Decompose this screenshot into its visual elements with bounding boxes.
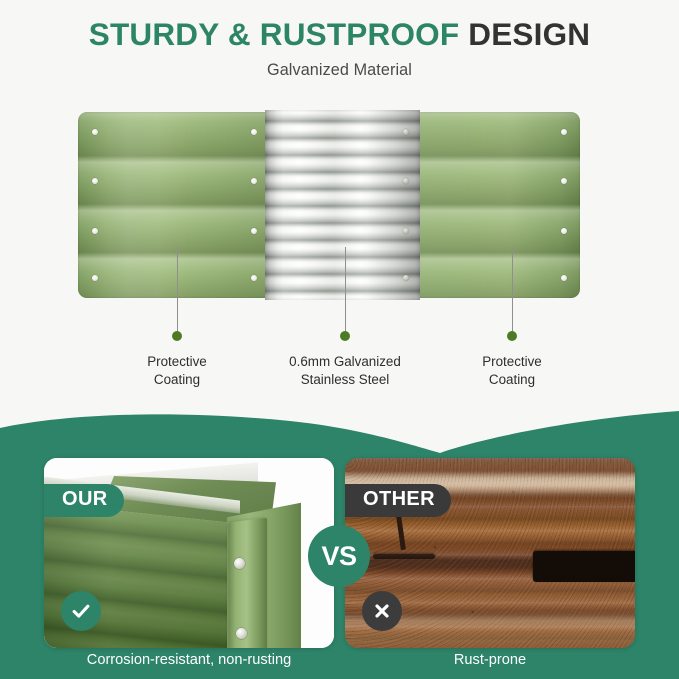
callout-dot-right <box>507 331 517 341</box>
infographic-page: STURDY & RUSTPROOF DESIGN Galvanized Mat… <box>0 0 679 679</box>
screw <box>561 228 567 234</box>
galvanized-steel-core <box>265 110 420 300</box>
leader-line-right <box>512 247 513 332</box>
corner-post-screw <box>234 558 245 569</box>
callout-dot-left <box>172 331 182 341</box>
corner-post-screw <box>236 628 247 639</box>
screw <box>561 129 567 135</box>
corrosion-crack <box>373 554 435 559</box>
page-title: STURDY & RUSTPROOF DESIGN <box>0 0 679 52</box>
screw <box>561 178 567 184</box>
screw <box>92 275 98 281</box>
screw <box>92 178 98 184</box>
screw <box>403 228 409 234</box>
other-badge: OTHER <box>345 484 451 517</box>
vs-badge: VS <box>308 525 370 587</box>
screw <box>403 275 409 281</box>
screw <box>251 178 257 184</box>
title-rest: DESIGN <box>468 16 590 52</box>
screw <box>251 129 257 135</box>
callout-right-line1: Protective <box>412 353 612 371</box>
screw <box>561 275 567 281</box>
screw <box>403 129 409 135</box>
screw <box>92 228 98 234</box>
check-icon <box>61 591 101 631</box>
other-caption: Rust-prone <box>345 652 635 670</box>
header: STURDY & RUSTPROOF DESIGN Galvanized Mat… <box>0 0 679 80</box>
callout-right: Protective Coating <box>412 353 612 388</box>
screw <box>251 275 257 281</box>
leader-line-left <box>177 247 178 332</box>
page-subtitle: Galvanized Material <box>0 52 679 80</box>
title-highlight: STURDY & RUSTPROOF <box>89 16 460 52</box>
our-product-card[interactable]: OUR <box>44 458 334 648</box>
other-product-card[interactable]: OTHER <box>345 458 635 648</box>
screw <box>92 129 98 135</box>
corrosion-hole <box>533 551 635 582</box>
our-caption: Corrosion-resistant, non-rusting <box>44 652 334 670</box>
screw <box>251 228 257 234</box>
cross-icon <box>362 591 402 631</box>
callout-dot-center <box>340 331 350 341</box>
metal-panel-diagram <box>78 112 580 298</box>
leader-line-center <box>345 247 346 332</box>
callout-right-line2: Coating <box>412 371 612 389</box>
our-badge: OUR <box>44 484 124 517</box>
screw <box>403 178 409 184</box>
bed-corner-post <box>229 518 267 648</box>
